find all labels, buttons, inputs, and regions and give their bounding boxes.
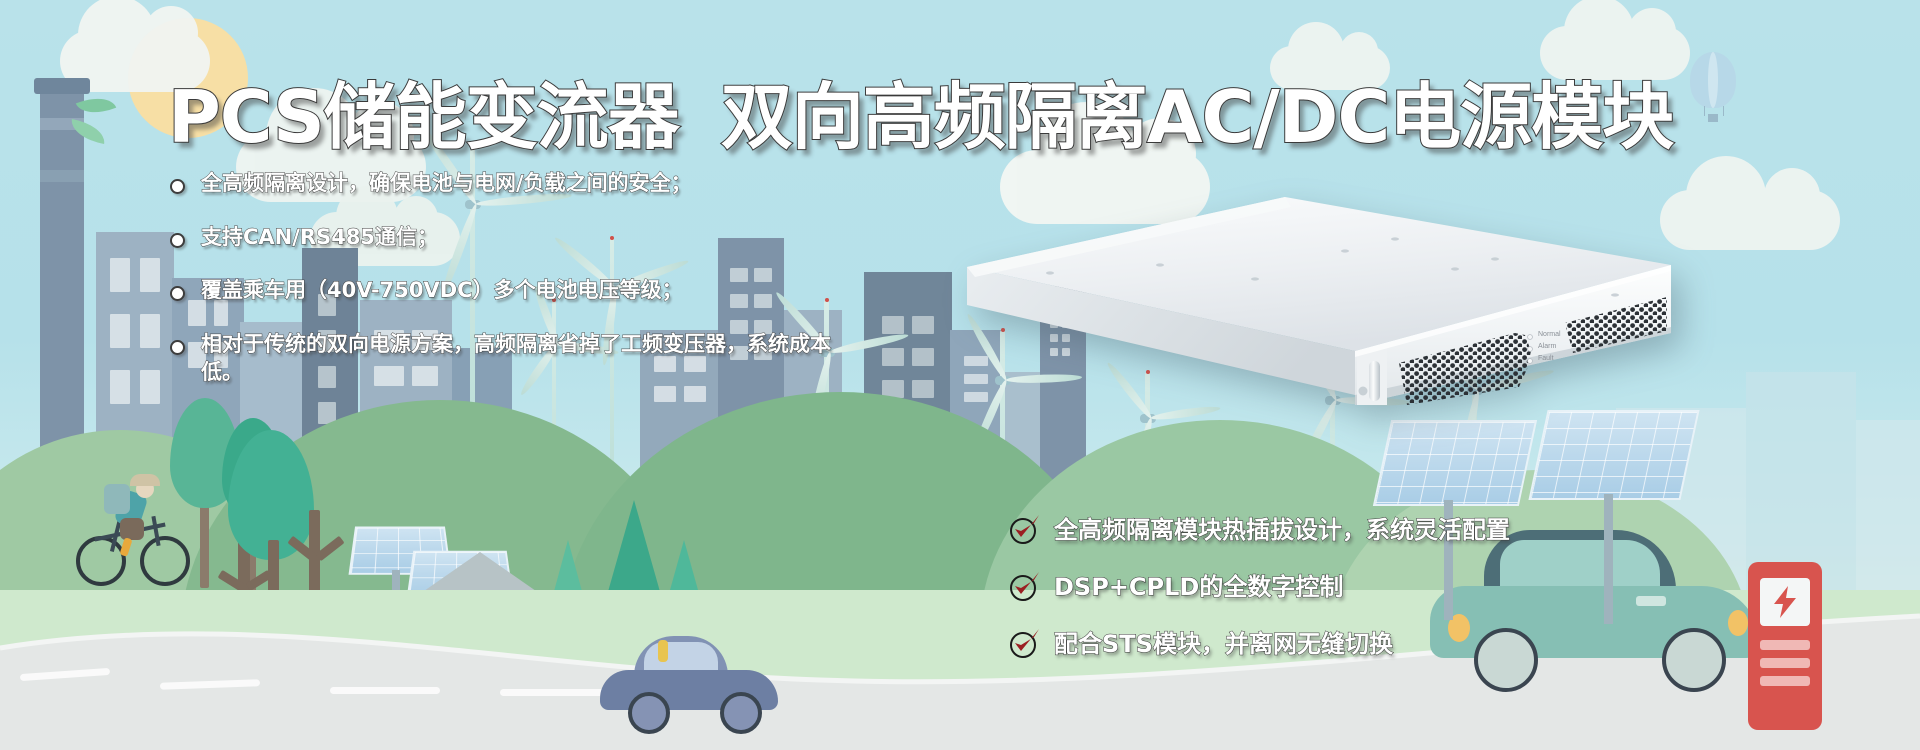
- ev-charging-station: [1748, 562, 1834, 732]
- device-illustration: [955, 155, 1675, 410]
- lightning-bolt-icon: [1768, 584, 1802, 620]
- checklist-text: DSP+CPLD的全数字控制: [1054, 567, 1343, 602]
- feature-text: 全高频隔离设计，确保电池与电网/负载之间的安全；: [201, 170, 692, 198]
- bullet-dot-icon: [170, 340, 185, 355]
- solar-carport: [1382, 420, 1528, 506]
- feature-text: 支持CAN/RS485通信；: [201, 224, 438, 252]
- checklist: 全高频隔离模块热插拔设计，系统灵活配置 DSP+CPLD的全数字控制 配合STS…: [1010, 510, 1510, 681]
- led-label-alarm: Alarm: [1538, 343, 1556, 350]
- checklist-text: 配合STS模块，并离网无缝切换: [1054, 624, 1393, 659]
- checklist-item: 全高频隔离模块热插拔设计，系统灵活配置: [1010, 510, 1510, 545]
- check-circle-icon: [1010, 569, 1042, 601]
- cyclist: [70, 468, 210, 588]
- bullet-dot-icon: [170, 179, 185, 194]
- bullet-dot-icon: [170, 233, 185, 248]
- feature-text: 相对于传统的双向电源方案，高频隔离省掉了工频变压器，系统成本低。: [201, 331, 870, 386]
- car: [600, 636, 780, 722]
- feature-item: 支持CAN/RS485通信；: [170, 224, 930, 252]
- solar-carport: [1538, 410, 1690, 500]
- bullet-dot-icon: [170, 286, 185, 301]
- feature-item: 相对于传统的双向电源方案，高频隔离省掉了工频变压器，系统成本低。: [170, 331, 870, 386]
- feature-list: 全高频隔离设计，确保电池与电网/负载之间的安全； 支持CAN/RS485通信； …: [170, 170, 930, 413]
- check-circle-icon: [1010, 512, 1042, 544]
- led-label-normal: Normal: [1538, 331, 1561, 338]
- checklist-text: 全高频隔离模块热插拔设计，系统灵活配置: [1054, 510, 1510, 545]
- road-marking: [330, 687, 440, 694]
- checklist-item: 配合STS模块，并离网无缝切换: [1010, 624, 1510, 659]
- check-circle-icon: [1010, 626, 1042, 658]
- title-part-1: PCS储能变流器: [168, 75, 679, 159]
- led-label-fault: Fault: [1538, 355, 1554, 362]
- page-title: PCS储能变流器双向高频隔离AC/DC电源模块: [168, 58, 1673, 163]
- power-module-device: Normal Alarm Fault: [955, 155, 1675, 410]
- checklist-item: DSP+CPLD的全数字控制: [1010, 567, 1510, 602]
- title-part-2: 双向高频隔离AC/DC电源模块: [721, 75, 1673, 159]
- road-marking: [500, 689, 610, 696]
- cloud-icon: [1660, 190, 1840, 250]
- hot-air-balloon-icon: [1690, 52, 1736, 108]
- product-banner: Normal Alarm Fault PCS储能变流器双向高频隔离AC/DC电源…: [0, 0, 1920, 750]
- feature-item: 全高频隔离设计，确保电池与电网/负载之间的安全；: [170, 170, 930, 198]
- feature-text: 覆盖乘车用（40V-750VDC）多个电池电压等级；: [201, 277, 683, 305]
- feature-item: 覆盖乘车用（40V-750VDC）多个电池电压等级；: [170, 277, 930, 305]
